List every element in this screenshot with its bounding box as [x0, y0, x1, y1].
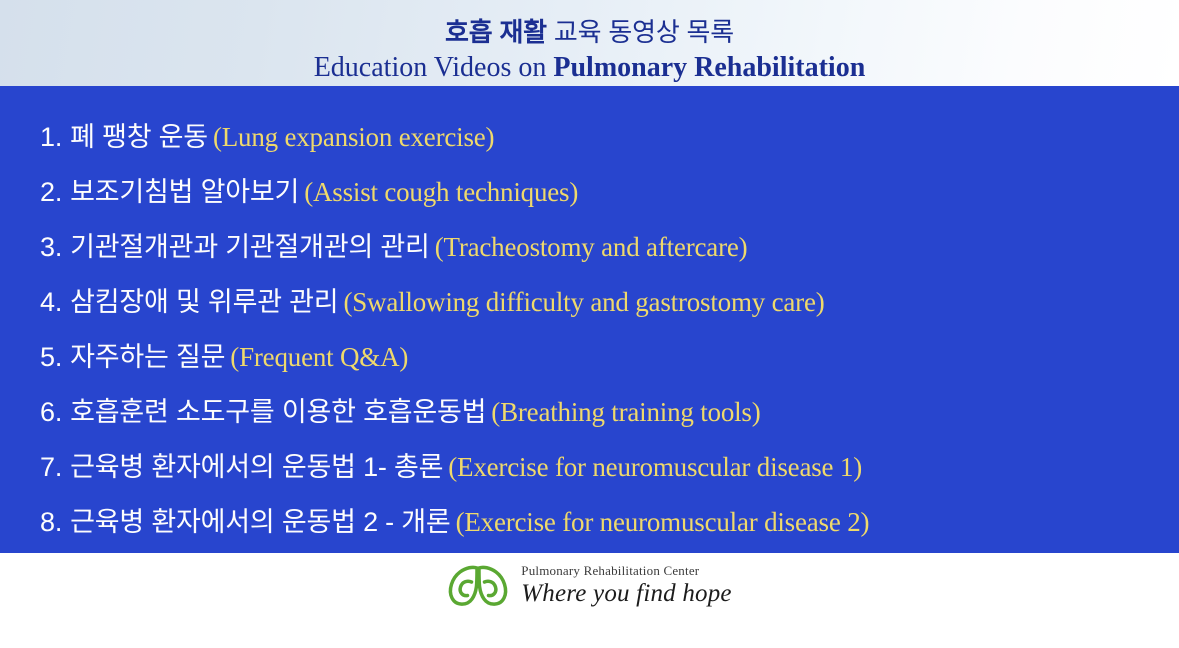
center-logo: Pulmonary Rehabilitation Center Where yo… [0, 561, 1179, 609]
list-item-english: (Frequent Q&A) [225, 342, 408, 372]
list-item-number: 6. [40, 397, 62, 427]
slide-header: 호흡 재활 교육 동영상 목록 Education Videos on Pulm… [0, 0, 1179, 86]
page-title-korean-rest: 교육 동영상 목록 [547, 17, 734, 47]
list-item-english: (Swallowing difficulty and gastrostomy c… [338, 287, 824, 317]
page-title-korean-bold: 호흡 재활 [445, 17, 547, 47]
butterfly-lungs-icon [447, 561, 509, 609]
org-name: Pulmonary Rehabilitation Center [521, 563, 731, 579]
list-item-number: 1. [40, 122, 62, 152]
video-list-band: 1.폐 팽창 운동(Lung expansion exercise) 2.보조기… [0, 86, 1179, 553]
list-item-english: (Tracheostomy and aftercare) [430, 232, 748, 262]
list-item-korean: 폐 팽창 운동 [62, 122, 208, 152]
list-item-english: (Assist cough techniques) [299, 177, 578, 207]
list-item: 8.근육병 환자에서의 운동법 2 - 개론(Exercise for neur… [40, 495, 1169, 550]
list-item-korean: 자주하는 질문 [62, 342, 225, 372]
slide-footer: Pulmonary Rehabilitation Center Where yo… [0, 553, 1179, 648]
page-title-english: Education Videos on Pulmonary Rehabilita… [0, 52, 1179, 84]
list-item-number: 4. [40, 287, 62, 317]
list-item: 4.삼킴장애 및 위루관 관리(Swallowing difficulty an… [40, 275, 1169, 330]
list-item-number: 8. [40, 507, 62, 537]
list-item-number: 2. [40, 177, 62, 207]
list-item: 7.근육병 환자에서의 운동법 1- 총론(Exercise for neuro… [40, 440, 1169, 495]
list-item-korean: 호흡훈련 소도구를 이용한 호흡운동법 [62, 397, 486, 427]
list-item: 3.기관절개관과 기관절개관의 관리(Tracheostomy and afte… [40, 220, 1169, 275]
list-item-number: 7. [40, 452, 62, 482]
list-item-english: (Breathing training tools) [486, 397, 760, 427]
page-title-english-bold: Pulmonary Rehabilitation [553, 52, 865, 83]
list-item-korean: 삼킴장애 및 위루관 관리 [62, 287, 338, 317]
list-item-korean: 근육병 환자에서의 운동법 1- 총론 [62, 452, 443, 482]
tagline: Where you find hope [521, 579, 731, 608]
page-title-english-regular: Education Videos on [314, 52, 554, 83]
logo-text-block: Pulmonary Rehabilitation Center Where yo… [521, 563, 731, 608]
list-item: 6.호흡훈련 소도구를 이용한 호흡운동법(Breathing training… [40, 385, 1169, 440]
list-item-korean: 보조기침법 알아보기 [62, 177, 299, 207]
list-item-korean: 근육병 환자에서의 운동법 2 - 개론 [62, 507, 450, 537]
list-item: 5.자주하는 질문(Frequent Q&A) [40, 330, 1169, 385]
list-item-english: (Exercise for neuromuscular disease 1) [443, 452, 862, 482]
list-item: 2.보조기침법 알아보기(Assist cough techniques) [40, 165, 1169, 220]
list-item: 1.폐 팽창 운동(Lung expansion exercise) [40, 110, 1169, 165]
list-item-english: (Exercise for neuromuscular disease 2) [451, 507, 870, 537]
list-item-number: 5. [40, 342, 62, 372]
list-item-number: 3. [40, 232, 62, 262]
page-title-korean: 호흡 재활 교육 동영상 목록 [0, 17, 1179, 47]
list-item-korean: 기관절개관과 기관절개관의 관리 [62, 232, 430, 262]
slide: 호흡 재활 교육 동영상 목록 Education Videos on Pulm… [0, 0, 1179, 648]
video-list: 1.폐 팽창 운동(Lung expansion exercise) 2.보조기… [40, 110, 1169, 550]
list-item-english: (Lung expansion exercise) [208, 122, 494, 152]
